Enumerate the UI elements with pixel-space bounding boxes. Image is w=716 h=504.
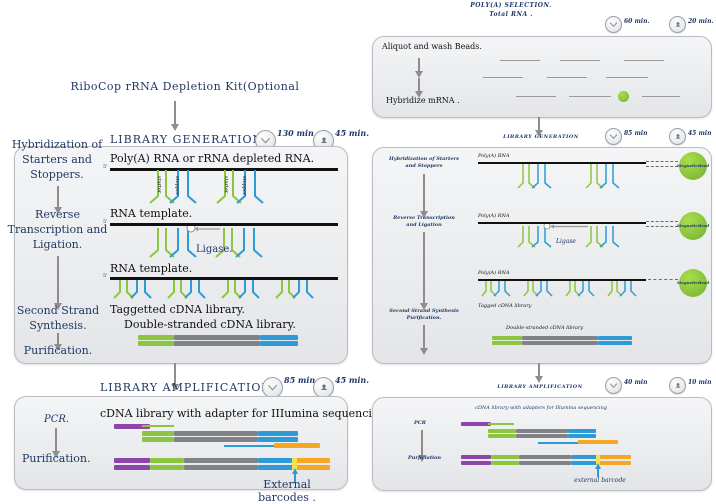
ligation-adapter-pair-small xyxy=(516,224,626,250)
amp-bar-green-small-2 xyxy=(488,434,516,438)
final-bar-yellow xyxy=(296,458,330,463)
molecule-label-cdna-illumina-small: cDNA library with adapters for Illumina … xyxy=(446,405,636,411)
rna-fragment xyxy=(516,96,556,97)
rna-fragment xyxy=(606,77,648,78)
molecule-label-polya-rna: Poly(A) RNA or rRNA depleted RNA. xyxy=(110,152,314,165)
step-line: Hybridization of Starters xyxy=(376,156,472,163)
final-bar-green-small xyxy=(491,455,519,459)
arrow-kit-to-library xyxy=(174,101,176,125)
ds-cdna-bar-green-small-2 xyxy=(492,341,522,345)
molecule-label-rna-template-1: RNA template. xyxy=(110,207,192,220)
clock-icon-glyph xyxy=(609,132,618,141)
library-amplification-time-hands-on-small: 10 min xyxy=(669,377,711,394)
primer-arrow-reverse xyxy=(224,445,274,447)
step-hybridization-label-small: Hybridization of Starters and Stoppers xyxy=(376,156,472,170)
library-amplification-hands-on-time: 45 min. xyxy=(335,375,369,385)
library-generation-header-small: LIBRARY GENERATION xyxy=(476,134,606,140)
final-bar-purple-2 xyxy=(114,465,150,470)
step-pcr-label: PCR. xyxy=(44,414,69,425)
final-bar-gray-2 xyxy=(184,465,258,470)
final-bar-purple xyxy=(114,458,150,463)
tagged-cdna-adapters-small xyxy=(480,281,650,299)
step-line: Hybridization of xyxy=(2,137,112,152)
step-pcr-label-small: PCR xyxy=(414,420,426,426)
hands-on-icon xyxy=(669,377,686,394)
rna-fragment xyxy=(560,60,600,61)
step-second-strand-label-small: Second Strand Synthesis Purification. xyxy=(376,308,472,322)
final-bar-green xyxy=(150,458,184,463)
total-rna-subheader: Total RNA . xyxy=(436,11,586,18)
step-line: Second Strand Synthesis xyxy=(376,308,472,315)
step-second-strand-label: Second Strand Synthesis. xyxy=(4,303,112,333)
rna-fragment xyxy=(547,77,587,78)
bead-label-line: Magnetic xyxy=(677,281,698,286)
hands-on-icon-glyph xyxy=(673,132,683,142)
arrow-pcr-to-purification xyxy=(55,428,57,452)
molecule-label-ds-cdna: Double-stranded cDNA library. xyxy=(124,318,296,331)
amp-bar-blue-2 xyxy=(258,437,298,442)
polya-hands-on-time: 20 min. xyxy=(688,18,714,25)
library-amplification-header-small: LIBRARY AMPLIFICATION xyxy=(474,384,606,390)
hands-on-icon-glyph xyxy=(318,135,330,147)
callout-line: External xyxy=(232,478,342,491)
step-hybridization-label: Hybridization of Starters and Stoppers. xyxy=(2,137,112,182)
magnetic-bead-icon xyxy=(618,91,629,102)
molecule-label-polya-small-2: Poly(A) RNA xyxy=(478,213,509,219)
hands-on-icon xyxy=(669,128,686,145)
ds-cdna-bar-gray-small xyxy=(522,336,598,340)
molecule-label-ds-cdna-small: Double-stranded cDNA library xyxy=(506,325,583,331)
starter-stopper-adapter-pair-small xyxy=(516,164,558,192)
molecule-label-tagged-cdna-small: Tagged cDNA library xyxy=(478,303,531,309)
arrow-small-2 xyxy=(423,232,425,304)
left-panel-detailed: RiboCop rRNA Depletion Kit(Optional LIBR… xyxy=(0,0,360,495)
amp-bar-yellow-top-small xyxy=(578,440,618,444)
step-line: and Stoppers xyxy=(376,163,472,170)
library-generation-hands-on-time-small: 45 min xyxy=(688,130,711,137)
step-hybridize-mrna: Hybridize mRNA . xyxy=(386,96,460,105)
molecule-label-polya-small-3: Poly(A) RNA xyxy=(478,270,509,276)
clock-icon-glyph xyxy=(609,20,618,29)
library-amplification-total-time-small: 40 min xyxy=(624,379,647,386)
library-amplification-time-total: 85 min. xyxy=(262,377,318,398)
adapter-label-starter: starter xyxy=(223,176,229,193)
polya-tail xyxy=(646,161,678,162)
polya-total-time: 60 min. xyxy=(624,18,650,25)
rna-fragment xyxy=(642,96,680,97)
magnetic-bead-label: Magnetic Bead xyxy=(679,152,707,180)
step-purification-label: Purification. xyxy=(4,344,112,357)
amp-bar-blue-small xyxy=(568,429,596,433)
polya-tail xyxy=(646,166,678,167)
hands-on-icon xyxy=(313,377,334,398)
ds-cdna-bar-gray-2 xyxy=(174,341,260,346)
final-bar-yellow-2 xyxy=(296,465,330,470)
polya-tail xyxy=(646,226,678,227)
external-barcode-pointer-small xyxy=(597,468,599,477)
molecule-label-rna-template-2: RNA template. xyxy=(110,262,192,275)
final-bar-purple-small-2 xyxy=(461,461,491,465)
arrow-aliquot-1 xyxy=(418,58,420,72)
clock-icon xyxy=(605,16,622,33)
adapter-label-stopper: stopper xyxy=(241,176,247,195)
final-bar-yellow-small-2 xyxy=(599,461,631,465)
library-generation-header: LIBRARY GENERATION xyxy=(110,133,255,146)
arrow-hybridization-to-rt xyxy=(57,186,59,208)
external-barcode-callout-small: external barcode xyxy=(552,477,648,484)
arrow-small-1 xyxy=(423,174,425,212)
step-line: Stoppers. xyxy=(2,167,112,182)
bead-label-line: Magnetic xyxy=(677,224,698,229)
library-generation-time-total-small: 85 min xyxy=(605,128,647,145)
final-bar-gray-small-2 xyxy=(519,461,571,465)
library-amplification-header: LIBRARY AMPLIFICATION. xyxy=(100,381,260,394)
amp-bar-blue-small-2 xyxy=(568,434,596,438)
polya-tail xyxy=(648,279,678,280)
step-line: Synthesis. xyxy=(4,318,112,333)
library-generation-total-time-small: 85 min xyxy=(624,130,647,137)
library-amplification-time-hands-on: 45 min. xyxy=(313,377,369,398)
final-bar-gray xyxy=(184,458,258,463)
enzyme-label-ligase: Ligase. xyxy=(196,244,232,255)
magnetic-bead-label: Magnetic Bead xyxy=(679,269,707,297)
polya-time-hands-on: 20 min. xyxy=(669,16,714,33)
amp-bar-green xyxy=(142,431,174,436)
magnetic-bead-label: Magnetic Bead xyxy=(679,212,707,240)
step-line: Reverse xyxy=(0,207,115,222)
final-bar-yellow-small xyxy=(599,455,631,459)
arrow-generation-to-amplification-small xyxy=(538,363,540,377)
ds-cdna-bar-green xyxy=(138,335,174,340)
strand-end-5prime: 5' xyxy=(103,219,108,225)
molecule-label-tagged-cdna: Taggetted cDNA library. xyxy=(110,303,245,316)
step-line: and Ligation xyxy=(376,222,472,229)
step-purification-label-small: Purficiation xyxy=(408,455,441,461)
bead-label-line: Bead xyxy=(698,224,709,229)
step-line: Reverse Transcription xyxy=(376,215,472,222)
clock-icon-glyph xyxy=(267,382,278,393)
polya-time-total: 60 min. xyxy=(605,16,650,33)
step-aliquot-wash-beads: Aliquot and wash Beads. xyxy=(382,42,482,51)
step-line: Purification. xyxy=(376,315,472,322)
clock-icon xyxy=(605,128,622,145)
arrow-polya-to-generation xyxy=(538,117,540,131)
final-bar-blue-2 xyxy=(258,465,296,470)
amp-bar-green-2 xyxy=(142,437,174,442)
step-purification-label-amp: Purification. xyxy=(22,452,90,465)
strand-end-5prime: 5' xyxy=(103,273,108,279)
clock-icon xyxy=(605,377,622,394)
arrow-pcr-to-purification-small xyxy=(421,430,423,456)
clock-icon xyxy=(262,377,283,398)
primer-arrow-forward xyxy=(142,425,174,427)
library-generation-time-hands-on-small: 45 min xyxy=(669,128,711,145)
clock-icon-glyph xyxy=(609,381,618,390)
bead-label-line: Magnetic xyxy=(677,164,698,169)
ds-cdna-bar-gray xyxy=(174,335,260,340)
rna-fragment xyxy=(500,60,540,61)
hands-on-icon xyxy=(669,16,686,33)
step-reverse-transcription-label: Reverse Transcription and Ligation. xyxy=(0,207,115,252)
arrow-rt-to-second-strand xyxy=(57,256,59,304)
rna-fragment xyxy=(569,96,611,97)
polya-selection-header: POLY(A) SELECTION. xyxy=(436,2,586,9)
arrow-small-3 xyxy=(423,325,425,349)
ds-cdna-bar-green-2 xyxy=(138,341,174,346)
bead-label-line: Bead xyxy=(698,164,709,169)
amp-bar-gray xyxy=(174,431,258,436)
external-barcodes-callout: External barcodes . xyxy=(232,478,342,504)
hands-on-icon-glyph xyxy=(318,382,330,394)
rna-fragment xyxy=(483,77,523,78)
ds-cdna-bar-blue-small-2 xyxy=(598,341,632,345)
amp-bar-yellow-top xyxy=(274,443,320,448)
amp-bar-green-small xyxy=(488,429,516,433)
step-line: Second Strand xyxy=(4,303,112,318)
adapter-label-starter: starter xyxy=(156,176,162,193)
library-generation-hands-on-time: 45 min. xyxy=(335,128,369,138)
final-bar-gray-small xyxy=(519,455,571,459)
hands-on-icon-glyph xyxy=(673,381,683,391)
rna-fragment xyxy=(624,60,664,61)
starter-stopper-adapter-pair-small xyxy=(584,164,626,192)
adapter-label-stopper: stopper xyxy=(174,176,180,195)
right-panel-overview: POLY(A) SELECTION. Total RNA . 60 min. 2… xyxy=(366,0,716,495)
ds-cdna-bar-green-small xyxy=(492,336,522,340)
polya-tail xyxy=(646,221,678,222)
step-line: Ligation. xyxy=(0,237,115,252)
ds-cdna-bar-blue xyxy=(260,335,298,340)
primer-arrow-forward-small xyxy=(488,423,514,425)
amp-bar-purple-top-small xyxy=(461,422,491,426)
final-bar-blue xyxy=(258,458,296,463)
amp-bar-gray-small-2 xyxy=(516,434,568,438)
strand-end-5prime: 5' xyxy=(103,164,108,170)
ds-cdna-bar-blue-2 xyxy=(260,341,298,346)
primer-arrow-reverse-small xyxy=(538,442,578,444)
library-generation-total-time: 130 min. xyxy=(277,128,317,138)
amp-bar-gray-2 xyxy=(174,437,258,442)
amp-bar-blue xyxy=(258,431,298,436)
arrow-aliquot-2 xyxy=(418,78,420,92)
molecule-label-polya-small-1: Poly(A) RNA xyxy=(478,153,509,159)
amp-bar-gray-small xyxy=(516,429,568,433)
library-amplification-time-total-small: 40 min xyxy=(605,377,647,394)
step-reverse-transcription-label-small: Reverse Transcription and Ligation xyxy=(376,215,472,229)
bead-label-line: Bead xyxy=(698,281,709,286)
final-bar-green-small-2 xyxy=(491,461,519,465)
final-bar-blue-small xyxy=(571,455,599,459)
ds-cdna-bar-blue-small xyxy=(598,336,632,340)
ds-cdna-bar-gray-small-2 xyxy=(522,341,598,345)
callout-line: barcodes . xyxy=(232,491,342,504)
step-line: Transcription and xyxy=(0,222,115,237)
library-amplification-hands-on-time-small: 10 min xyxy=(688,379,711,386)
step-line: Starters and xyxy=(2,152,112,167)
final-bar-purple-small xyxy=(461,455,491,459)
ribocop-kit-label: RiboCop rRNA Depletion Kit(Optional xyxy=(60,80,310,93)
clock-icon-glyph xyxy=(260,135,271,146)
enzyme-label-ligase-small: Ligase xyxy=(556,238,576,245)
molecule-label-cdna-illumina: cDNA library with adapter for IIIumina s… xyxy=(100,407,390,420)
hands-on-icon-glyph xyxy=(673,20,683,30)
library-amplification-box-small xyxy=(372,397,712,491)
final-bar-green-2 xyxy=(150,465,184,470)
tagged-cdna-adapters xyxy=(112,280,334,302)
